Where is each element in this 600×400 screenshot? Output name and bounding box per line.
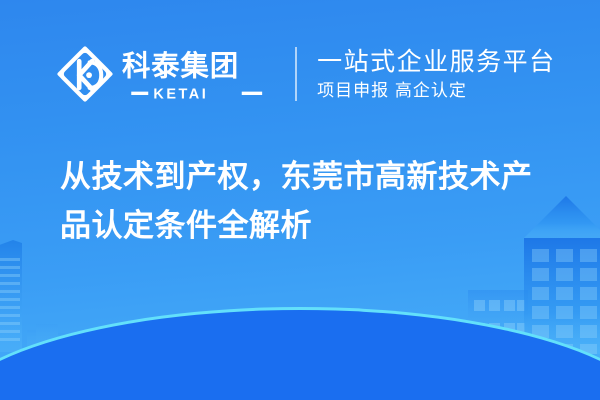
promo-banner: 科泰集团 KETAI 一站式企业服务平台 项目申报 高企认定 从技术到产权，东莞… <box>0 0 600 400</box>
logo-company-name-en: KETAI <box>122 84 273 101</box>
ketai-diamond-kd-monogram-icon <box>56 45 114 103</box>
logo-company-name-cn-text: 科泰集团 <box>122 49 239 82</box>
logo-wordmark: 科泰集团 KETAI <box>122 48 273 101</box>
skyscraper-icon <box>0 240 22 352</box>
logo-company-name-en-text: KETAI <box>153 86 208 101</box>
vertical-divider-icon <box>295 47 297 101</box>
brand-header: 科泰集团 KETAI 一站式企业服务平台 项目申报 高企认定 <box>56 38 556 110</box>
curved-band-icon <box>0 310 600 400</box>
page-title: 从技术到产权，东莞市高新技术产品认定条件全解析 <box>60 152 560 250</box>
tagline-sub: 项目申报 高企认定 <box>317 80 556 102</box>
logo-company-name-cn: 科泰集团 <box>122 48 273 82</box>
tagline-main: 一站式企业服务平台 <box>317 47 556 77</box>
tagline-block: 一站式企业服务平台 项目申报 高企认定 <box>317 47 556 102</box>
